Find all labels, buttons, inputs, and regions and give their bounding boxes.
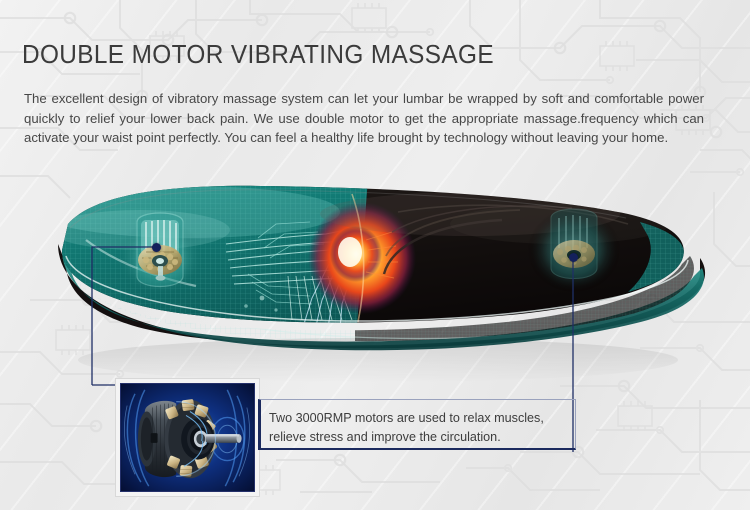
page-title: DOUBLE MOTOR VIBRATING MASSAGE	[22, 41, 494, 70]
description-paragraph: The excellent design of vibratory massag…	[24, 89, 704, 148]
motor-inset-image	[116, 379, 259, 496]
callout-caption-text: Two 3000RMP motors are used to relax mus…	[269, 409, 569, 446]
right-motor-icon	[528, 208, 620, 292]
product-feature-page: DOUBLE MOTOR VIBRATING MASSAGE The excel…	[0, 0, 750, 510]
motor-inset-frame	[120, 383, 255, 492]
product-hero-image	[0, 178, 750, 393]
electric-motor-photo	[121, 384, 254, 491]
callout-caption-box: Two 3000RMP motors are used to relax mus…	[258, 399, 576, 450]
right-motor-callout-dot	[569, 253, 578, 262]
left-motor-callout-dot	[152, 243, 161, 252]
